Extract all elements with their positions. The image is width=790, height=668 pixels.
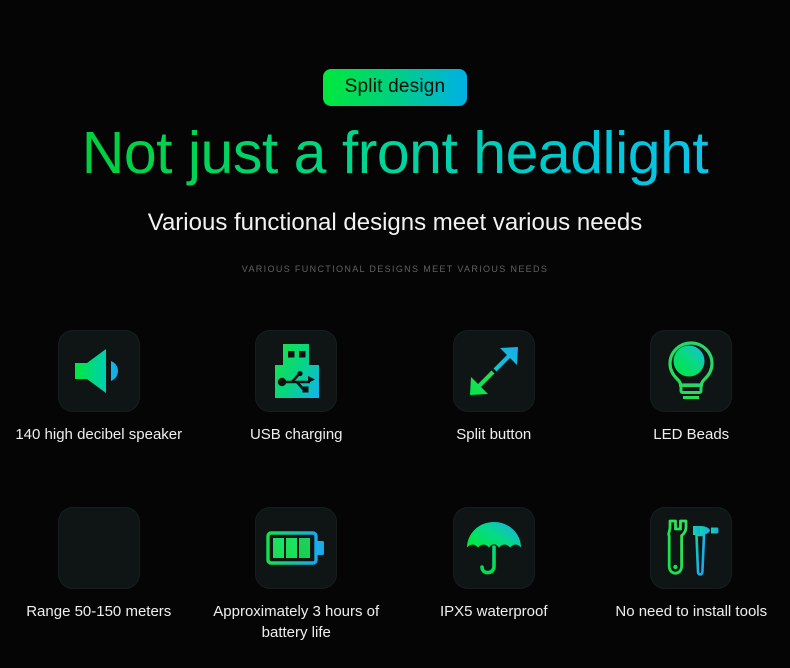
feature-item-battery: Approximately 3 hours of battery life: [198, 507, 396, 643]
feature-tile: [58, 330, 140, 412]
measure-range-icon: [71, 536, 127, 560]
feature-tile: [453, 507, 535, 589]
speaker-icon: [73, 347, 125, 395]
feature-item-waterproof: IPX5 waterproof: [395, 507, 593, 643]
page-subtitle-caps: VARIOUS FUNCTIONAL DESIGNS MEET VARIOUS …: [0, 263, 790, 275]
badge-row: Split design: [0, 69, 790, 106]
feature-label: LED Beads: [653, 424, 729, 445]
feature-item-range: Range 50-150 meters: [0, 507, 198, 643]
umbrella-icon: [465, 520, 523, 576]
feature-tile: [650, 330, 732, 412]
split-design-badge: Split design: [323, 69, 468, 106]
feature-label: Range 50-150 meters: [26, 601, 171, 622]
light-bulb-icon: [666, 341, 716, 401]
page-subtitle: Various functional designs meet various …: [0, 208, 790, 238]
feature-grid: 140 high decibel speaker: [0, 330, 790, 643]
feature-item-split-button: Split button: [395, 330, 593, 445]
feature-row-1: 140 high decibel speaker: [0, 330, 790, 445]
feature-tile: [650, 507, 732, 589]
feature-tile: [58, 507, 140, 589]
feature-tile: [255, 507, 337, 589]
battery-icon: [266, 530, 326, 566]
feature-label: IPX5 waterproof: [440, 601, 548, 622]
feature-item-speaker: 140 high decibel speaker: [0, 330, 198, 445]
feature-item-led-beads: LED Beads: [593, 330, 790, 445]
promo-page: Split design Not just a front headlight …: [0, 0, 790, 668]
feature-item-tools: No need to install tools: [593, 507, 790, 643]
feature-row-2: Range 50-150 meters: [0, 507, 790, 643]
feature-label: USB charging: [250, 424, 343, 445]
feature-item-usb: USB charging: [198, 330, 396, 445]
feature-tile: [255, 330, 337, 412]
diagonal-arrows-icon: [466, 343, 522, 399]
feature-label: 140 high decibel speaker: [15, 424, 182, 445]
feature-tile: [453, 330, 535, 412]
usb-drive-icon: [270, 343, 322, 399]
feature-label: Approximately 3 hours of battery life: [209, 601, 384, 643]
feature-label: Split button: [456, 424, 531, 445]
page-title: Not just a front headlight: [0, 118, 790, 188]
wrench-hammer-icon: [662, 518, 720, 578]
feature-label: No need to install tools: [615, 601, 767, 622]
